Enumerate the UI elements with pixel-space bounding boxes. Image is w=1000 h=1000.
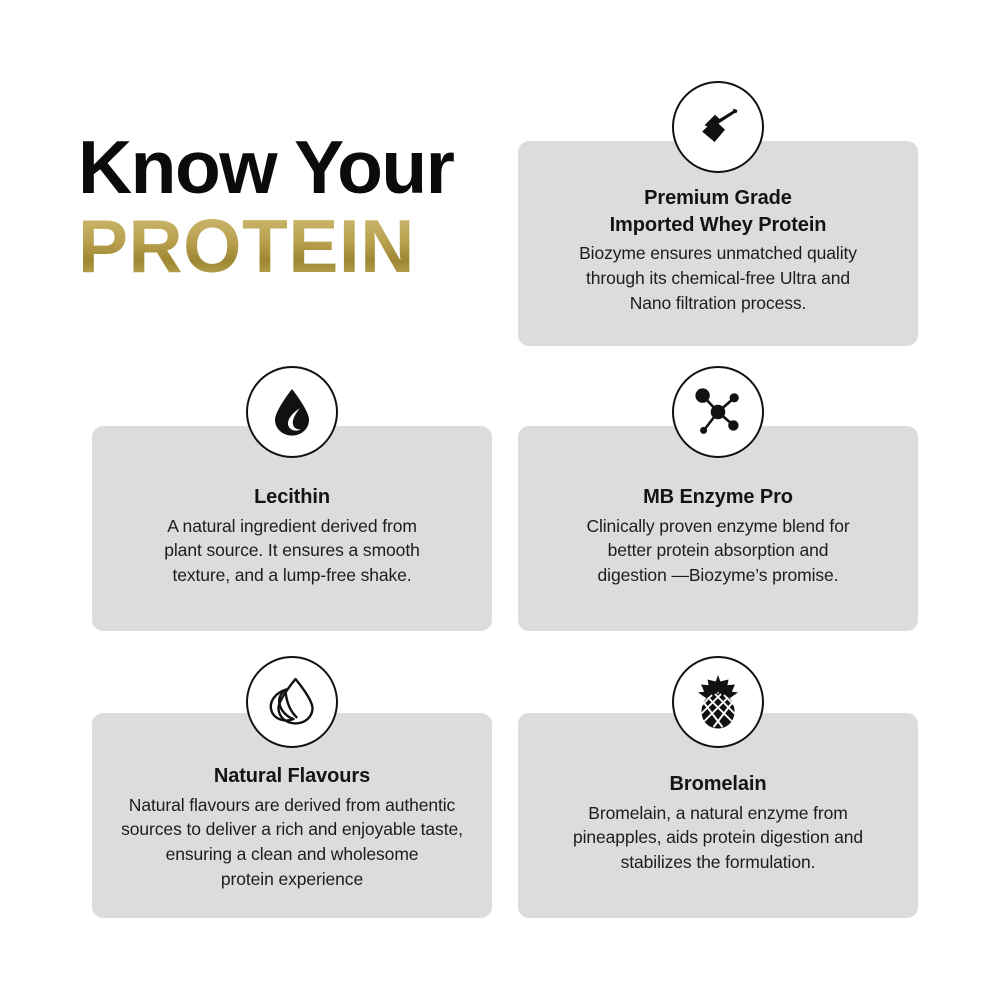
- feature-card-enzyme-text: MB Enzyme Pro Clinically proven enzyme b…: [518, 484, 918, 588]
- feature-card-lecithin-title: Lecithin: [114, 484, 470, 511]
- feature-card-lecithin-text: Lecithin A natural ingredient derived fr…: [92, 484, 492, 588]
- feature-card-whey-description: Biozyme ensures unmatched quality throug…: [540, 241, 896, 316]
- page-title-line-2: PROTEIN: [78, 207, 508, 286]
- infographic-page: Know Your PROTEIN Premium Grade Imported…: [0, 0, 1000, 1000]
- leaf-droplet-icon: [246, 656, 338, 748]
- feature-card-whey-text: Premium Grade Imported Whey Protein Bioz…: [518, 185, 918, 316]
- page-title: Know Your PROTEIN: [78, 132, 508, 286]
- feature-card-bromelain-text: Bromelain Bromelain, a natural enzyme fr…: [518, 771, 918, 875]
- feature-card-lecithin-description: A natural ingredient derived from plant …: [114, 514, 470, 589]
- feature-card-flavours-text: Natural Flavours Natural flavours are de…: [92, 763, 492, 892]
- feature-card-enzyme-title: MB Enzyme Pro: [540, 484, 896, 511]
- feature-card-bromelain-title: Bromelain: [540, 771, 896, 798]
- protein-scoop-icon: [672, 81, 764, 173]
- feature-card-whey-title: Premium Grade Imported Whey Protein: [540, 185, 896, 238]
- feature-card-enzyme-description: Clinically proven enzyme blend for bette…: [540, 514, 896, 589]
- molecule-icon: [672, 366, 764, 458]
- page-title-line-1: Know Your: [78, 132, 508, 203]
- pineapple-icon: [672, 656, 764, 748]
- feature-card-flavours-title: Natural Flavours: [114, 763, 470, 790]
- water-droplet-icon: [246, 366, 338, 458]
- feature-card-flavours-description: Natural flavours are derived from authen…: [114, 793, 470, 892]
- feature-card-bromelain-description: Bromelain, a natural enzyme from pineapp…: [540, 801, 896, 876]
